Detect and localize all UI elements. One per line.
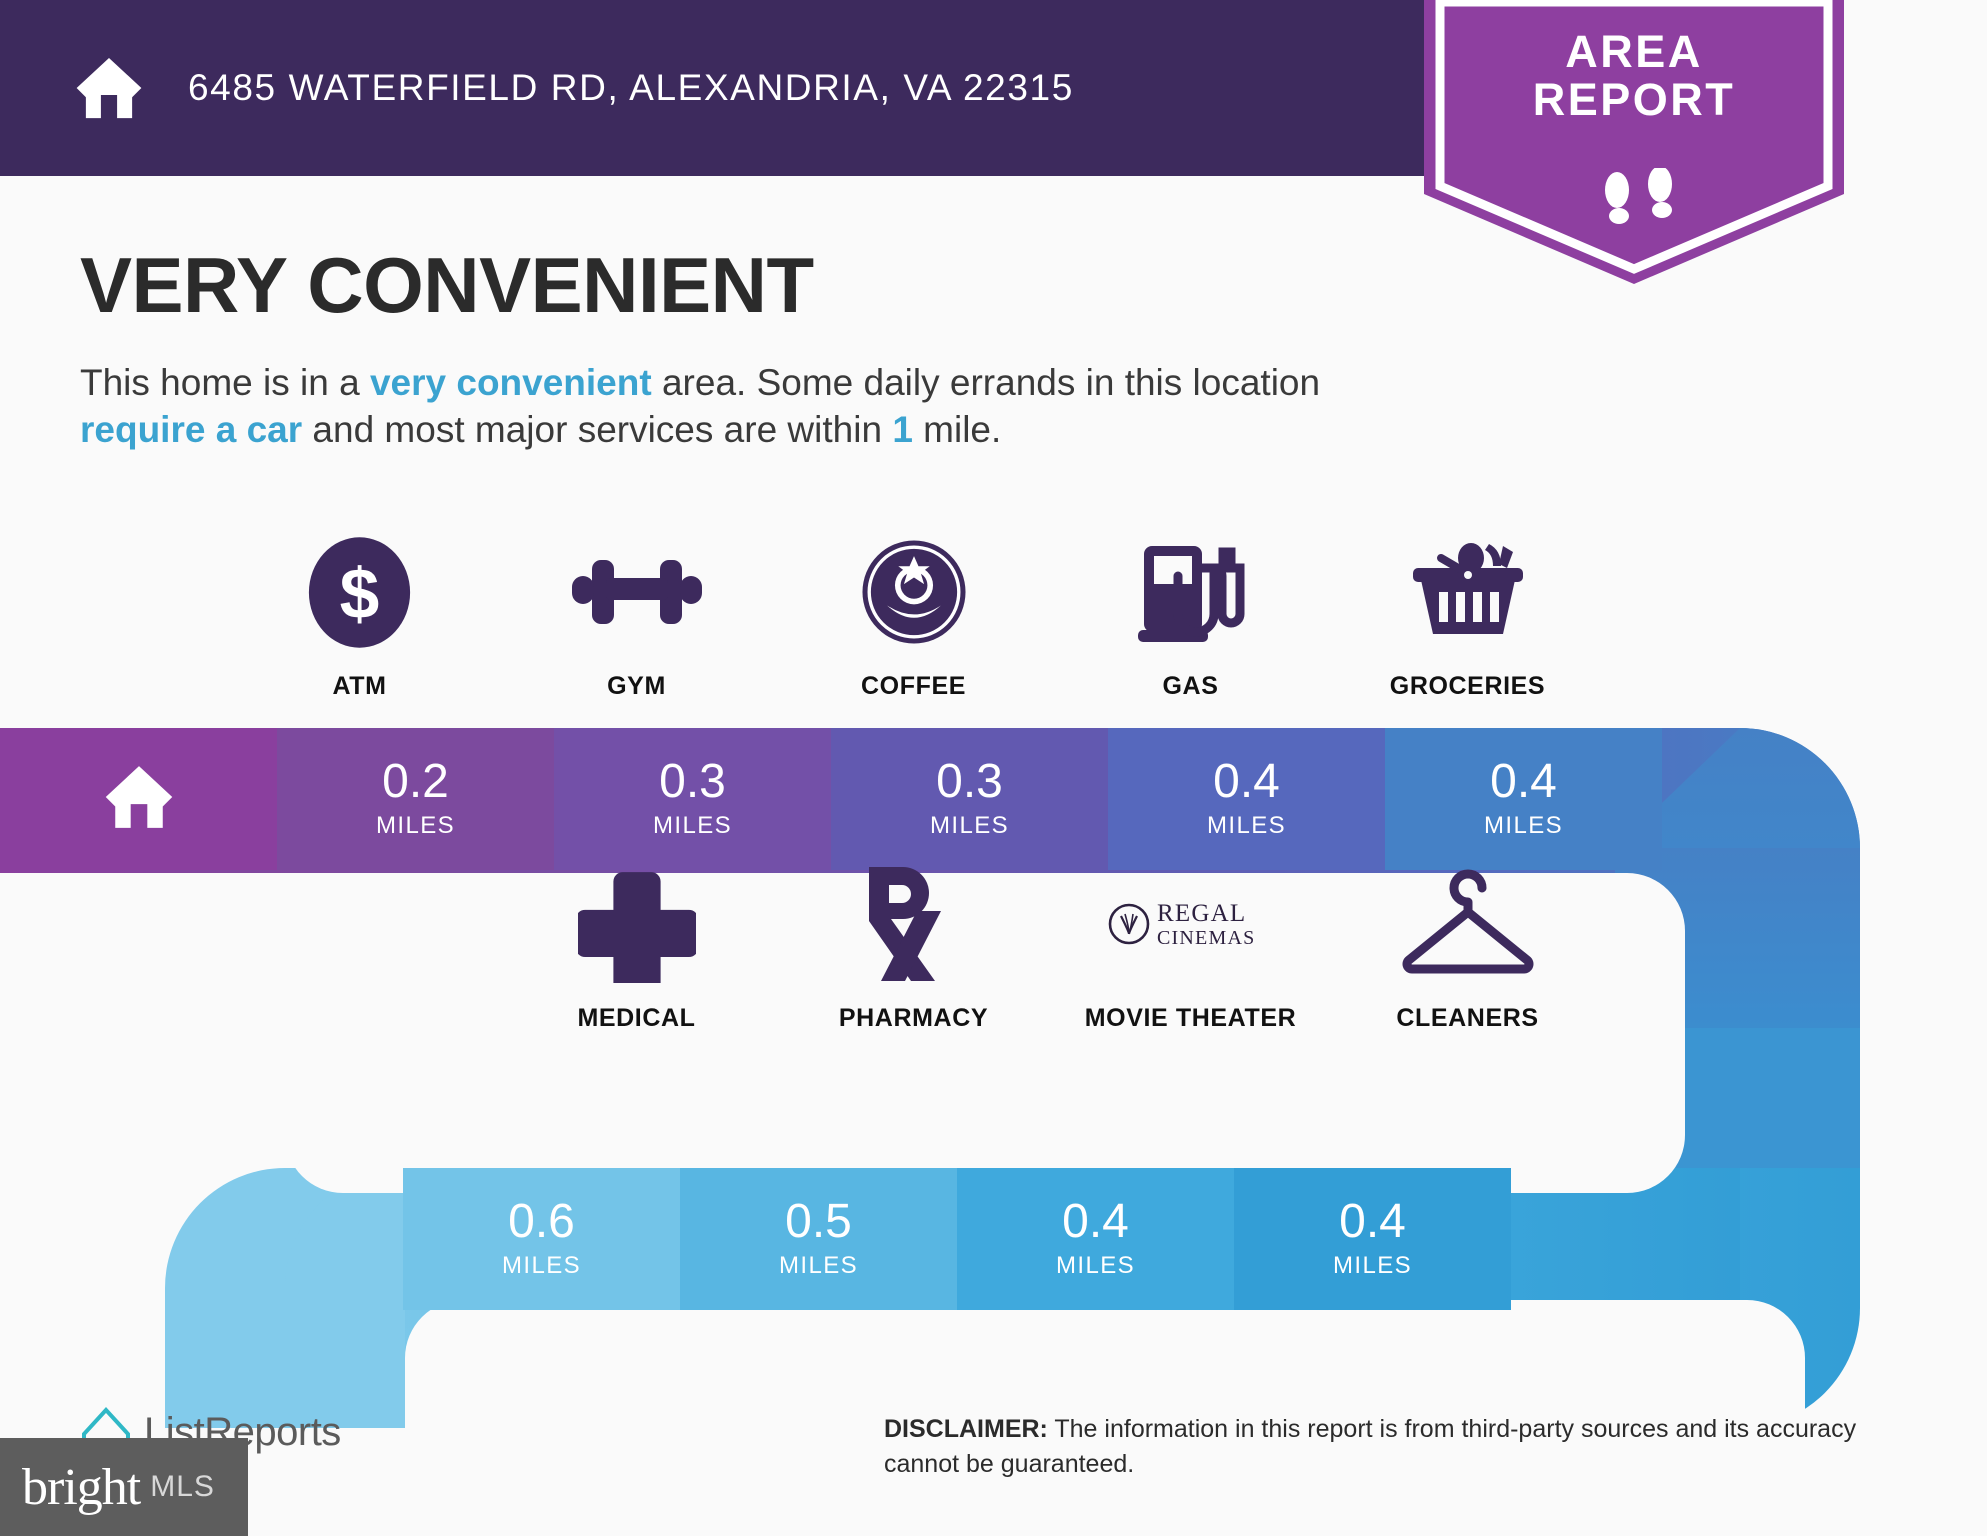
page-title: VERY CONVENIENT: [80, 240, 814, 331]
distance-cell-movie-theater: 0.4 MILES: [957, 1168, 1234, 1310]
row1-icons: $ ATM GYM: [221, 528, 1606, 701]
blurb-part-3: and most major services are within: [302, 409, 892, 450]
distance-value: 0.6: [508, 1198, 575, 1246]
blurb-part-1: This home is in a: [80, 362, 370, 403]
distance-cell-gym: 0.3 MILES: [554, 728, 831, 870]
service-label: GROCERIES: [1390, 672, 1545, 701]
medical-cross-icon: [578, 860, 696, 988]
distance-cell-atm: 0.2 MILES: [277, 728, 554, 870]
distance-value: 0.4: [1213, 758, 1280, 806]
hanger-icon: [1393, 860, 1543, 988]
service-label: GAS: [1163, 672, 1219, 701]
svg-text:$: $: [340, 553, 380, 633]
distance-unit: MILES: [1484, 812, 1563, 840]
summary-text: This home is in a very convenient area. …: [80, 360, 1400, 454]
distance-cell-coffee: 0.3 MILES: [831, 728, 1108, 870]
house-icon: [101, 759, 177, 840]
badge-line-1: AREA: [1424, 28, 1844, 76]
home-marker: [0, 728, 277, 870]
distance-cell-pharmacy: 0.5 MILES: [680, 1168, 957, 1310]
service-cell-gym: GYM: [498, 528, 775, 701]
service-label: MOVIE THEATER: [1085, 1004, 1297, 1033]
area-report-badge: AREA REPORT: [1424, 0, 1844, 284]
blurb-highlight-3: 1: [892, 409, 913, 450]
bright-wordmark: bright: [22, 1458, 140, 1517]
service-label: COFFEE: [861, 672, 966, 701]
mls-wordmark: MLS: [150, 1470, 215, 1504]
distance-unit: MILES: [653, 812, 732, 840]
service-cell-atm: $ ATM: [221, 528, 498, 701]
gas-pump-icon: [1130, 528, 1252, 656]
badge-line-2: REPORT: [1424, 76, 1844, 124]
badge-title: AREA REPORT: [1424, 28, 1844, 123]
grocery-basket-icon: [1405, 528, 1531, 656]
service-cell-pharmacy: PHARMACY: [775, 860, 1052, 1033]
service-cell-coffee: COFFEE: [775, 528, 1052, 701]
svg-text:CINEMAS: CINEMAS: [1157, 927, 1255, 949]
distance-unit: MILES: [502, 1252, 581, 1280]
bright-mls-logo: bright MLS: [0, 1438, 248, 1536]
blurb-part-4: mile.: [913, 409, 1001, 450]
distance-cell-cleaners: 0.4 MILES: [1234, 1168, 1511, 1310]
service-cell-medical: MEDICAL: [498, 860, 775, 1033]
distance-unit: MILES: [376, 812, 455, 840]
distance-value: 0.2: [382, 758, 449, 806]
distance-cell-groceries: 0.4 MILES: [1385, 728, 1662, 870]
area-report-page: 6485 WATERFIELD RD, ALEXANDRIA, VA 22315…: [0, 0, 1987, 1536]
service-cell-movie-theater: REGAL CINEMAS MOVIE THEATER: [1052, 860, 1329, 1033]
distance-unit: MILES: [1207, 812, 1286, 840]
regal-cinemas-icon: REGAL CINEMAS: [1107, 860, 1275, 988]
blurb-highlight-1: very convenient: [370, 362, 652, 403]
row2-icons: MEDICAL PHARMACY: [498, 860, 1606, 1033]
dumbbell-icon: [562, 528, 712, 656]
property-address: 6485 WATERFIELD RD, ALEXANDRIA, VA 22315: [188, 67, 1074, 109]
service-label: GYM: [607, 672, 666, 701]
distance-cell-gas: 0.4 MILES: [1108, 728, 1385, 870]
service-cell-cleaners: CLEANERS: [1329, 860, 1606, 1033]
service-label: CLEANERS: [1396, 1004, 1538, 1033]
service-label: ATM: [332, 672, 386, 701]
disclaimer: DISCLAIMER: The information in this repo…: [884, 1412, 1914, 1481]
distance-unit: MILES: [930, 812, 1009, 840]
header-bar: 6485 WATERFIELD RD, ALEXANDRIA, VA 22315: [0, 0, 1424, 176]
dollar-circle-icon: $: [302, 528, 417, 656]
track-right-mask: [1860, 700, 1987, 1536]
distance-value: 0.4: [1062, 1198, 1129, 1246]
service-label: MEDICAL: [577, 1004, 695, 1033]
footsteps-icon: [1600, 168, 1680, 230]
service-label: PHARMACY: [839, 1004, 988, 1033]
disclaimer-label: DISCLAIMER:: [884, 1415, 1048, 1443]
distance-value: 0.5: [785, 1198, 852, 1246]
blurb-part-2: area. Some daily errands in this locatio…: [652, 362, 1320, 403]
blurb-highlight-2: require a car: [80, 409, 302, 450]
svg-text:REGAL: REGAL: [1157, 900, 1246, 927]
distance-unit: MILES: [1056, 1252, 1135, 1280]
house-icon: [72, 51, 146, 125]
distance-value: 0.3: [659, 758, 726, 806]
distance-unit: MILES: [779, 1252, 858, 1280]
service-cell-groceries: GROCERIES: [1329, 528, 1606, 701]
distance-cell-medical: 0.6 MILES: [403, 1168, 680, 1310]
distance-unit: MILES: [1333, 1252, 1412, 1280]
distance-value: 0.3: [936, 758, 1003, 806]
service-cell-gas: GAS: [1052, 528, 1329, 701]
distance-value: 0.4: [1490, 758, 1557, 806]
track-top-mask: [0, 700, 1987, 728]
starbucks-icon: [858, 528, 970, 656]
rx-icon: [859, 860, 969, 988]
distance-value: 0.4: [1339, 1198, 1406, 1246]
row1-distances: 0.2 MILES 0.3 MILES 0.3 MILES 0.4 MILES …: [0, 728, 1662, 870]
row2-distances: 0.6 MILES 0.5 MILES 0.4 MILES 0.4 MILES: [403, 1168, 1511, 1310]
